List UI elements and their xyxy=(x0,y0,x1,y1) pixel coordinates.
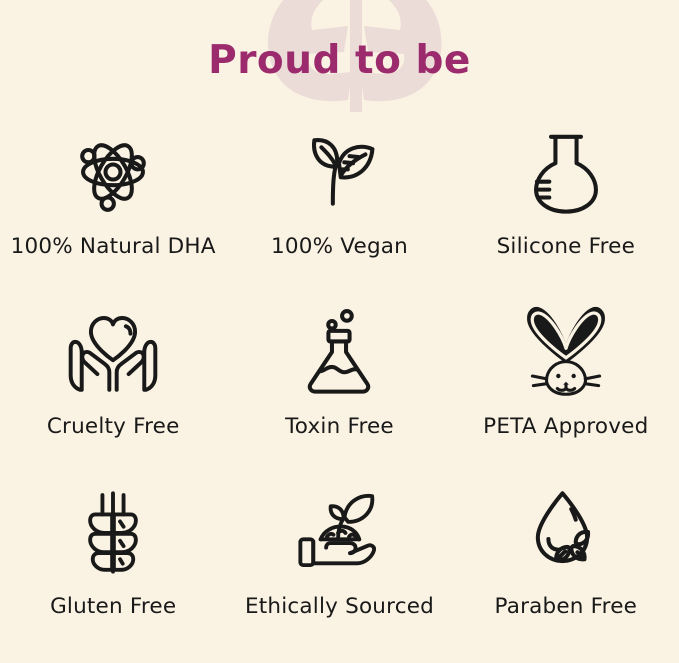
hand-soil-plant-icon xyxy=(293,480,385,584)
wheat-stalk-icon xyxy=(69,480,157,584)
sprout-leaf-icon xyxy=(295,120,383,224)
badge-item-ethically-sourced: Ethically Sourced xyxy=(226,472,452,652)
hands-heart-icon xyxy=(67,300,159,404)
rabbit-heart-icon xyxy=(518,300,614,404)
badge-item-cruelty-free: Cruelty Free xyxy=(0,292,226,472)
badge-item-toxin-free: Toxin Free xyxy=(226,292,452,472)
badge-item-vegan: 100% Vegan xyxy=(226,112,452,292)
badge-label: Paraben Free xyxy=(495,594,638,619)
badge-label: Gluten Free xyxy=(50,594,176,619)
proud-to-be-panel: Proud to be 100% Natural DHA xyxy=(0,0,679,663)
badge-label: Ethically Sourced xyxy=(245,594,434,619)
badge-item-paraben-free: Paraben Free xyxy=(453,472,679,652)
badge-item-natural-dha: 100% Natural DHA xyxy=(0,112,226,292)
page-title: Proud to be xyxy=(0,38,679,83)
badge-label: 100% Vegan xyxy=(271,234,408,259)
badge-label: Cruelty Free xyxy=(47,414,180,439)
badge-item-peta-approved: PETA Approved xyxy=(453,292,679,472)
erlenmeyer-flask-icon xyxy=(295,300,383,404)
water-drop-leaf-icon xyxy=(522,480,610,584)
badge-label: Toxin Free xyxy=(285,414,394,439)
badge-label: PETA Approved xyxy=(483,414,648,439)
badge-grid: 100% Natural DHA 100% Vegan xyxy=(0,112,679,652)
atom-icon xyxy=(69,120,157,224)
badge-item-silicone-free: Silicone Free xyxy=(453,112,679,292)
round-flask-icon xyxy=(522,120,610,224)
badge-item-gluten-free: Gluten Free xyxy=(0,472,226,652)
badge-label: Silicone Free xyxy=(497,234,635,259)
badge-label: 100% Natural DHA xyxy=(11,234,216,259)
